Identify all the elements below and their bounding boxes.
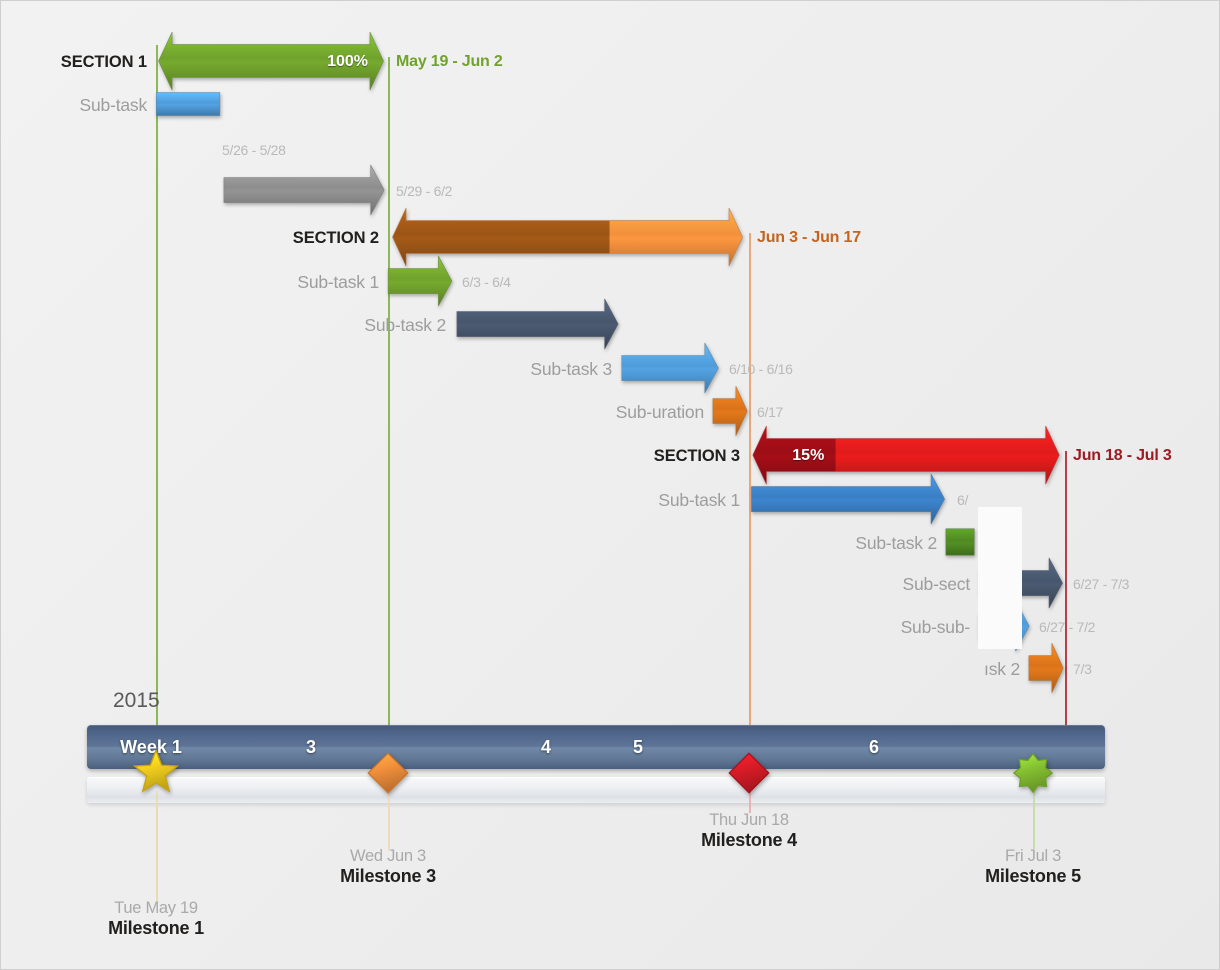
task-bar[interactable]: [156, 93, 222, 117]
milestone-marker-3[interactable]: [728, 752, 770, 799]
task-row: Sub-uration 6/17: [713, 399, 749, 425]
task-row: SECTION 3 15%Jun 18 - Jul 3: [749, 439, 1065, 473]
bar-shape-svg: [1027, 641, 1067, 697]
date-range-label: 6/: [949, 487, 968, 513]
date-range-label: May 19 - Jun 2: [388, 45, 503, 79]
bar-shape-svg: [453, 297, 624, 353]
milestone-drop-line-4: [1033, 791, 1035, 849]
task-bar[interactable]: [749, 439, 1065, 473]
date-range-label: Jun 3 - Jun 17: [749, 221, 861, 255]
subtask-label: Sub-task: [80, 93, 156, 117]
date-range-label: 6/3 - 6/4: [454, 269, 511, 295]
week-label-5: 6: [869, 725, 879, 769]
section-label: SECTION 3: [654, 439, 749, 473]
task-bar[interactable]: [156, 45, 388, 79]
guide-line-1: [156, 45, 158, 729]
task-row: SECTION 2 Jun 3 - Jun 17: [388, 221, 749, 255]
milestone-label-4: Fri Jul 3Milestone 5: [985, 847, 1081, 888]
milestone-name: Milestone 1: [108, 918, 204, 940]
bar-shape-svg: [747, 472, 951, 528]
section-label: SECTION 1: [61, 45, 156, 79]
task-bar[interactable]: [455, 312, 622, 338]
milestone-date: Tue May 19: [108, 899, 204, 918]
date-range-label: 6/10 - 6/16: [721, 356, 793, 382]
star-marker-icon: [133, 750, 179, 796]
date-range-label: 6/17: [749, 399, 783, 425]
subtask-label: Sub-task 1: [658, 487, 749, 513]
subtask-label: Sub-uration: [616, 399, 713, 425]
week-label-3: 4: [541, 725, 551, 769]
milestone-date: Thu Jun 18: [701, 811, 797, 830]
milestone-drop-line-1: [156, 791, 158, 903]
task-bar[interactable]: [1029, 656, 1065, 682]
section-label: SECTION 2: [293, 221, 388, 255]
milestone-name: Milestone 4: [701, 830, 797, 852]
diamond-marker-icon: [367, 752, 409, 794]
milestone-marker-4[interactable]: [1013, 753, 1053, 798]
week-label-4: 5: [633, 725, 643, 769]
bar-shape-svg: [220, 163, 390, 219]
week-ruler-bar[interactable]: Week 13456: [87, 725, 1105, 769]
bar-shape-svg: [619, 341, 723, 397]
task-bar[interactable]: [222, 178, 388, 204]
task-row: Sub-task 2: [455, 312, 622, 338]
bar-shape-svg: [711, 384, 751, 440]
date-range-label: 6/27 - 7/2: [1031, 614, 1095, 640]
milestone-date: Wed Jun 3: [340, 847, 436, 866]
milestone-marker-1[interactable]: [133, 750, 179, 801]
bar-shape-svg: [154, 79, 224, 131]
subtask-label: Sub-task 1: [297, 269, 388, 295]
task-row: ısk 2 7/3: [1029, 656, 1065, 682]
task-row: Sub-task 2: [946, 529, 976, 557]
task-bar[interactable]: [946, 529, 976, 557]
subtask-label: Sub-task 3: [530, 356, 621, 382]
milestone-label-2: Wed Jun 3Milestone 3: [340, 847, 436, 888]
date-range-label: 5/26 - 5/28: [222, 137, 286, 163]
task-row: Sub-task 1 6/3 - 6/4: [388, 269, 454, 295]
task-row: Sub-task: [156, 93, 222, 117]
task-row: 5/29 - 6/2: [222, 178, 388, 204]
date-range-label: Jun 18 - Jul 3: [1065, 439, 1172, 473]
task-bar[interactable]: [749, 487, 949, 513]
bar-shape-svg: [386, 254, 456, 310]
task-bar[interactable]: [388, 269, 454, 295]
subtask-label: Sub-task 2: [364, 312, 455, 338]
bar-shape-svg: [944, 514, 978, 572]
subtask-label: Sub-task 2: [855, 529, 946, 557]
gantt-chart-canvas: SECTION 1 100%May 19 - Jun 2Sub-task: [0, 0, 1220, 970]
milestone-marker-2[interactable]: [367, 752, 409, 799]
diamond-marker-icon: [728, 752, 770, 794]
task-bar[interactable]: [621, 356, 721, 382]
year-label: 2015: [113, 689, 160, 713]
date-range-label: 5/29 - 6/2: [388, 178, 452, 204]
date-range-label: 7/3: [1065, 656, 1092, 682]
milestone-date: Fri Jul 3: [985, 847, 1081, 866]
task-row: 5/26 - 5/28: [222, 137, 223, 163]
milestone-label-3: Thu Jun 18Milestone 4: [701, 811, 797, 852]
occluding-artifact-block: [978, 507, 1022, 649]
milestone-label-1: Tue May 19Milestone 1: [108, 899, 204, 940]
secondary-ruler-bar: [87, 777, 1105, 803]
date-range-label: 6/27 - 7/3: [1065, 571, 1129, 597]
milestone-name: Milestone 3: [340, 866, 436, 888]
subtask-label: Sub-sub-: [901, 614, 979, 640]
guide-line-2: [388, 57, 390, 729]
milestone-drop-line-2: [388, 791, 390, 851]
subtask-label: Sub-sect: [903, 571, 979, 597]
subtask-label: ısk 2: [984, 656, 1029, 682]
task-bar[interactable]: [713, 399, 749, 425]
burst-marker-icon: [1013, 753, 1053, 793]
task-row: Sub-task 3 6/10 - 6/16: [621, 356, 721, 382]
task-row: Sub-task 1 6/: [749, 487, 949, 513]
task-bar[interactable]: [388, 221, 749, 255]
task-row: SECTION 1 100%May 19 - Jun 2: [156, 45, 388, 79]
week-label-2: 3: [306, 725, 316, 769]
milestone-name: Milestone 5: [985, 866, 1081, 888]
